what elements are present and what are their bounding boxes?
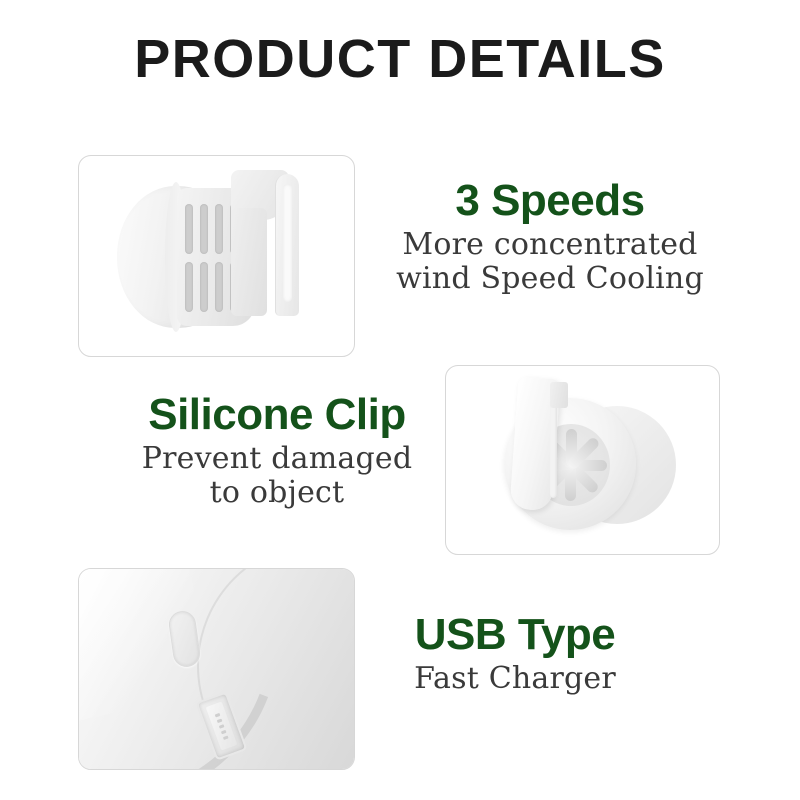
- feature-subtitle-speeds: More concentrated wind Speed Cooling: [360, 228, 740, 295]
- feature-text-usb-type: USB Type Fast Charger: [365, 612, 665, 696]
- vent-slot: [215, 262, 223, 312]
- feature-image-silicone-clip: [445, 365, 720, 555]
- feature-image-speeds: [78, 155, 355, 357]
- usb-pin: [217, 718, 223, 723]
- clip-arm-inner-shape: [283, 184, 292, 302]
- fan-with-clip-illustration: [446, 366, 719, 554]
- vent-slot: [185, 262, 193, 312]
- usb-pin: [221, 729, 227, 734]
- usb-pin: [219, 724, 225, 729]
- feature-title-speeds: 3 Speeds: [360, 178, 740, 224]
- vent-slot: [185, 204, 193, 254]
- vent-slot: [200, 204, 208, 254]
- usb-port-macro-illustration: [79, 569, 354, 769]
- page-title: PRODUCT DETAILS: [0, 32, 800, 86]
- fan-side-view-illustration: [79, 156, 354, 356]
- feature-subtitle-line: wind Speed Cooling: [360, 262, 740, 296]
- vent-slot: [215, 204, 223, 254]
- feature-subtitle-silicone-clip: Prevent damaged to object: [112, 442, 442, 509]
- product-details-page: PRODUCT DETAILS: [0, 0, 800, 800]
- usb-pin: [215, 712, 221, 717]
- feature-subtitle-line: Prevent damaged: [112, 442, 442, 476]
- usb-port-interior: [206, 701, 238, 750]
- vent-slot-column: [200, 204, 208, 312]
- feature-image-usb-type: [78, 568, 355, 770]
- feature-subtitle-usb-type: Fast Charger: [365, 662, 665, 696]
- feature-text-speeds: 3 Speeds More concentrated wind Speed Co…: [360, 178, 740, 295]
- vent-slot: [200, 262, 208, 312]
- feature-title-silicone-clip: Silicone Clip: [112, 392, 442, 438]
- feature-subtitle-line: Fast Charger: [365, 662, 665, 696]
- feature-subtitle-line: to object: [112, 476, 442, 510]
- silicone-clip-tab-shape: [550, 382, 568, 408]
- feature-title-usb-type: USB Type: [365, 612, 665, 658]
- usb-pin: [223, 735, 229, 740]
- vent-slot-column: [185, 204, 193, 312]
- feature-subtitle-line: More concentrated: [360, 228, 740, 262]
- vent-slot-column: [215, 204, 223, 312]
- clip-neck-shape: [231, 208, 267, 316]
- feature-text-silicone-clip: Silicone Clip Prevent damaged to object: [112, 392, 442, 509]
